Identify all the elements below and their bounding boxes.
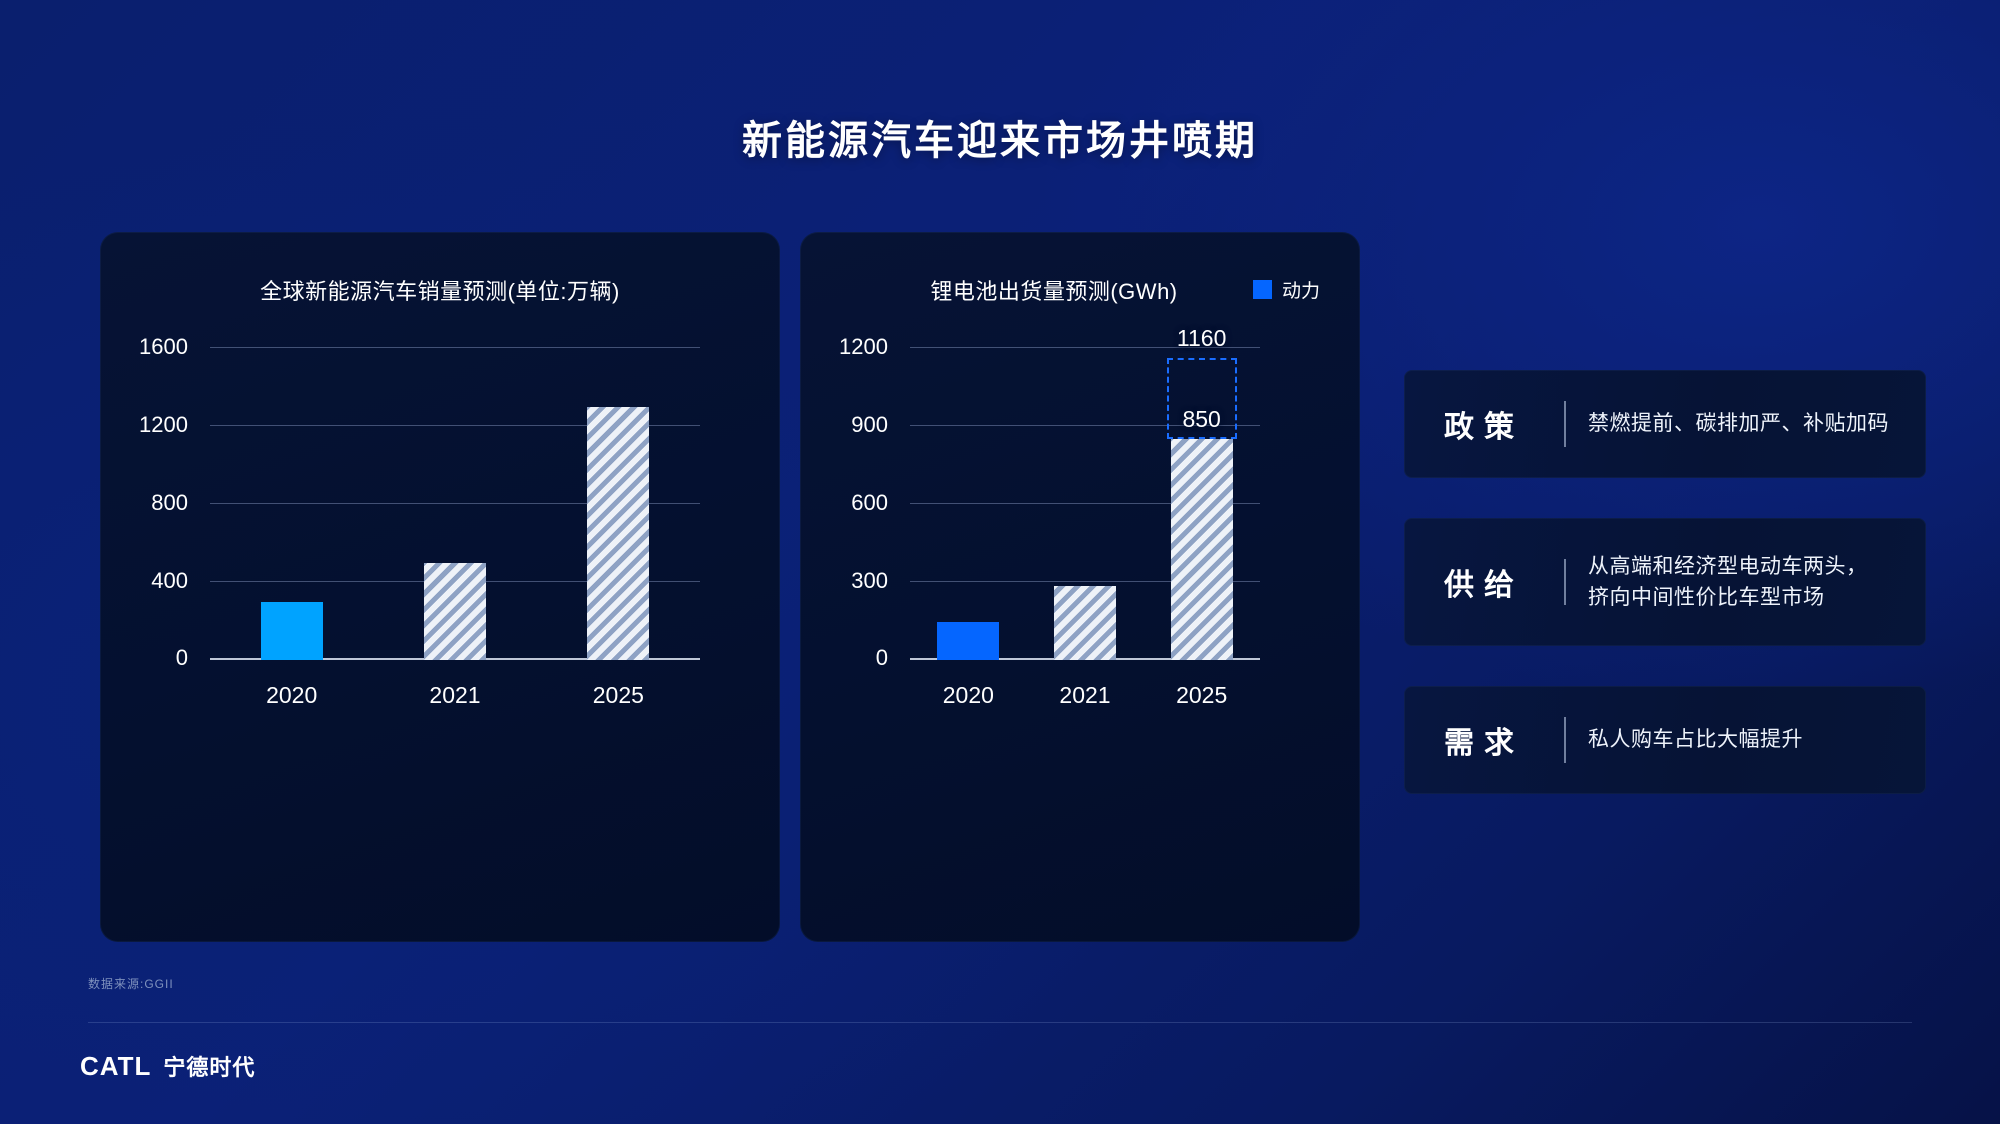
y-axis-tick-label: 0: [176, 645, 188, 671]
divider: [1564, 559, 1566, 605]
info-panel-supply[interactable]: 供给 从高端和经济型电动车两头，挤向中间性价比车型市场: [1404, 518, 1926, 646]
page-title: 新能源汽车迎来市场井喷期: [0, 108, 2000, 166]
legend-label: 动力: [1282, 276, 1320, 303]
chart-legend: 动力: [1253, 276, 1320, 303]
info-panel-key: 需求: [1442, 718, 1560, 762]
info-panel-text: 私人购车占比大幅提升: [1588, 724, 1803, 756]
bar-2025: [587, 407, 649, 661]
y-axis-tick-label: 1600: [139, 334, 188, 360]
y-axis-tick-label: 400: [151, 568, 188, 594]
brand-cn-text: 宁德时代: [163, 1050, 255, 1082]
info-panel-text: 禁燃提前、碳排加严、补贴加码: [1588, 408, 1889, 440]
y-axis-tick-label: 300: [851, 568, 888, 594]
bar-2021: [1054, 586, 1116, 660]
x-axis-tick-label: 2020: [266, 682, 317, 709]
chart-title-ev-sales: 全球新能源汽车销量预测(单位:万辆): [100, 274, 780, 306]
bar-2020: [937, 622, 999, 660]
x-axis-tick-label: 2021: [429, 682, 480, 709]
divider: [1564, 401, 1566, 447]
bar-value-label: 1160: [1177, 325, 1226, 352]
bar-2025: [1171, 439, 1233, 660]
info-panel-demand[interactable]: 需求 私人购车占比大幅提升: [1404, 686, 1926, 794]
bar-2021: [424, 563, 486, 661]
y-axis-tick-label: 0: [876, 645, 888, 671]
chart-plot-ev-sales: 040080012001600202020212025: [210, 348, 700, 660]
x-axis-tick-label: 2025: [1176, 682, 1227, 709]
x-axis-tick-label: 2025: [593, 682, 644, 709]
info-panel-policy[interactable]: 政策 禁燃提前、碳排加严、补贴加码: [1404, 370, 1926, 478]
info-panel-key: 政策: [1442, 402, 1560, 446]
brand-logo: CATL 宁德时代: [80, 1050, 255, 1082]
bar-2020: [261, 602, 323, 661]
gridline: 1600: [210, 347, 700, 348]
brand-latin-text: CATL: [80, 1051, 151, 1082]
y-axis-tick-label: 1200: [139, 412, 188, 438]
info-panel-key: 供给: [1442, 560, 1560, 604]
x-axis-tick-label: 2020: [943, 682, 994, 709]
divider: [1564, 717, 1566, 763]
y-axis-tick-label: 1200: [839, 334, 888, 360]
footer-divider: [88, 1022, 1912, 1023]
bar-value-label: 850: [1182, 406, 1220, 433]
y-axis-tick-label: 900: [851, 412, 888, 438]
info-panel-text: 从高端和经济型电动车两头，挤向中间性价比车型市场: [1588, 551, 1868, 614]
legend-swatch-icon: [1253, 280, 1272, 299]
y-axis-tick-label: 800: [151, 490, 188, 516]
y-axis-tick-label: 600: [851, 490, 888, 516]
x-axis-tick-label: 2021: [1059, 682, 1110, 709]
chart-plot-battery-shipments: 030060090012002020202120258501160: [910, 348, 1260, 660]
source-note: 数据来源:GGII: [88, 975, 174, 992]
